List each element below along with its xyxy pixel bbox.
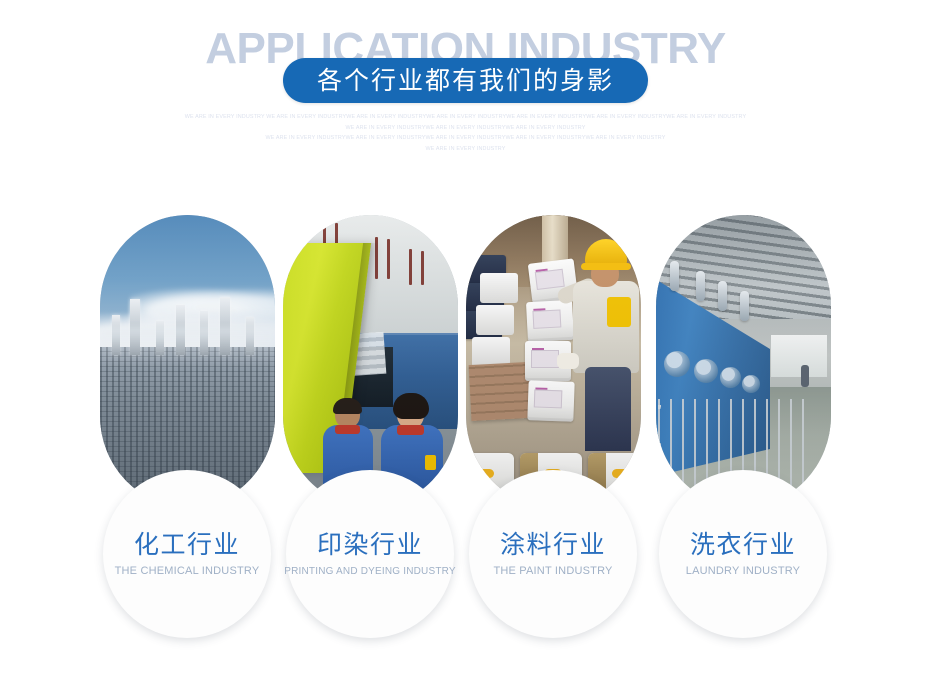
card-label-circle-printing-dyeing: 印染行业 PRINTING AND DYEING INDUSTRY: [286, 470, 454, 638]
card-title-en: PRINTING AND DYEING INDUSTRY: [284, 565, 456, 578]
card-label-circle-paint: 涂料行业 THE PAINT INDUSTRY: [469, 470, 637, 638]
paint-bucket-warehouse-photo: [466, 215, 641, 507]
industrial-laundry-photo: [656, 215, 831, 507]
chemical-plant-photo: [100, 215, 275, 507]
card-label-circle-chemical: 化工行业 THE CHEMICAL INDUSTRY: [103, 470, 271, 638]
textile-dyeing-factory-photo: [283, 215, 458, 507]
card-image-laundry: [656, 215, 831, 507]
card-title-cn: 印染行业: [317, 530, 423, 560]
card-title-en: THE PAINT INDUSTRY: [493, 565, 612, 578]
card-title-cn: 洗衣行业: [690, 530, 796, 560]
industry-card-chemical[interactable]: 化工行业 THE CHEMICAL INDUSTRY: [100, 215, 275, 507]
card-image-printing-dyeing: [283, 215, 458, 507]
card-label-circle-laundry: 洗衣行业 LAUNDRY INDUSTRY: [659, 470, 827, 638]
card-image-paint: [466, 215, 641, 507]
card-image-chemical: [100, 215, 275, 507]
card-title-cn: 化工行业: [134, 530, 240, 560]
industry-card-paint[interactable]: 涂料行业 THE PAINT INDUSTRY: [466, 215, 641, 507]
industry-card-printing-dyeing[interactable]: 印染行业 PRINTING AND DYEING INDUSTRY: [283, 215, 458, 507]
application-industry-banner: APPLICATION INDUSTRY 各个行业都有我们的身影 WE ARE …: [0, 0, 931, 676]
industry-card-grid: 化工行业 THE CHEMICAL INDUSTRY: [0, 0, 931, 676]
card-title-en: LAUNDRY INDUSTRY: [686, 565, 800, 578]
card-title-en: THE CHEMICAL INDUSTRY: [115, 565, 260, 578]
card-title-cn: 涂料行业: [500, 530, 606, 560]
industry-card-laundry[interactable]: 洗衣行业 LAUNDRY INDUSTRY: [656, 215, 831, 507]
